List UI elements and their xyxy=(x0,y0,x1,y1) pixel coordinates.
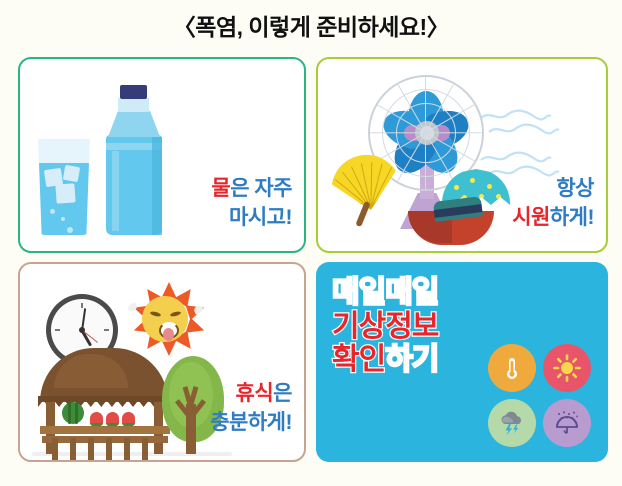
bottle-cap-icon xyxy=(120,85,147,99)
panel-take-rest: 휴식은충분하게! xyxy=(18,262,306,462)
watermelon-slice-icon xyxy=(90,412,103,423)
weather-headline-line: 매일매일 xyxy=(332,276,438,310)
thermometer-icon[interactable] xyxy=(488,344,536,392)
thunderstorm-icon[interactable] xyxy=(488,399,536,447)
caption-line: 시원하게! xyxy=(512,204,594,233)
pavilion-baluster xyxy=(142,438,148,460)
hand-fan-handle xyxy=(355,201,370,227)
pavilion-baluster xyxy=(106,438,112,460)
weather-icon-badges xyxy=(488,344,592,448)
pavilion-baluster xyxy=(70,438,76,460)
watermelon-icon xyxy=(62,402,84,424)
weather-headline-line: 기상정보 xyxy=(332,310,438,344)
weather-headline-text: 하기 xyxy=(385,343,438,376)
infographic-root: 〈폭염, 이렇게 준비하세요!〉 물은 자주마시고! xyxy=(0,0,622,486)
caption-line: 충분하게! xyxy=(210,409,292,438)
caption-line: 마시고! xyxy=(211,204,292,233)
watermelon-slice-icon xyxy=(106,412,119,423)
caption-highlight: 휴식 xyxy=(236,382,274,405)
weather-headline-highlight: 확인 xyxy=(332,343,385,376)
caption-take-rest: 휴식은충분하게! xyxy=(210,380,292,438)
bottle-neck xyxy=(118,98,149,112)
panel-check-weather: 매일매일기상정보확인하기 xyxy=(316,262,608,462)
rest-illustration xyxy=(32,278,232,458)
caption-line: 항상 xyxy=(512,175,594,204)
bubble-icon xyxy=(61,217,65,221)
water-illustration xyxy=(34,81,184,241)
page-title: 〈폭염, 이렇게 준비하세요!〉 xyxy=(0,8,622,42)
bottle-highlight xyxy=(112,151,119,231)
breeze-icon xyxy=(480,109,552,123)
watermelon-slice-icon xyxy=(122,412,135,423)
bubble-icon xyxy=(50,209,55,214)
breeze-icon xyxy=(488,123,560,137)
caption-text: 항상 xyxy=(556,177,594,200)
cool-illustration xyxy=(330,73,540,249)
caption-text: 은 xyxy=(273,382,292,405)
weather-headline-highlight: 기상정보 xyxy=(332,310,438,343)
weather-panel-text: 매일매일기상정보확인하기 xyxy=(332,276,438,377)
caption-text: 충분하게! xyxy=(210,411,292,434)
bottle-shoulder xyxy=(108,111,160,137)
caption-highlight: 물 xyxy=(211,177,230,200)
ice-cube-icon xyxy=(55,183,75,203)
caption-text: 은 자주 xyxy=(230,177,292,200)
breeze-icon xyxy=(480,151,552,165)
pavilion-baluster xyxy=(88,438,94,460)
caption-line: 물은 자주 xyxy=(211,175,292,204)
bottle-shade xyxy=(152,137,162,235)
caption-drink-water: 물은 자주마시고! xyxy=(211,175,292,233)
pavilion-baluster xyxy=(124,438,130,460)
panel-stay-cool: 항상시원하게! xyxy=(316,57,608,253)
pavilion-deck xyxy=(40,426,170,434)
pavilion-thatch-fringe xyxy=(38,396,170,407)
weather-headline-line: 확인하기 xyxy=(332,343,438,377)
caption-text: 마시고! xyxy=(229,206,292,229)
hot-sun-icon xyxy=(128,282,202,356)
bubble-icon xyxy=(67,227,73,233)
pavilion-rail xyxy=(42,436,168,443)
panel-drink-water: 물은 자주마시고! xyxy=(18,57,306,253)
caption-highlight: 시원 xyxy=(512,206,550,229)
weather-headline-text: 매일매일 xyxy=(332,276,438,309)
rain-umbrella-icon[interactable] xyxy=(543,399,591,447)
ice-cube-icon xyxy=(63,165,80,182)
sun-icon[interactable] xyxy=(543,344,591,392)
caption-text: 하게! xyxy=(550,206,594,229)
caption-stay-cool: 항상시원하게! xyxy=(512,175,594,233)
caption-line: 휴식은 xyxy=(210,380,292,409)
ground-shadow xyxy=(32,452,232,456)
pavilion-baluster xyxy=(52,438,58,460)
clock-center-pin xyxy=(79,327,85,333)
